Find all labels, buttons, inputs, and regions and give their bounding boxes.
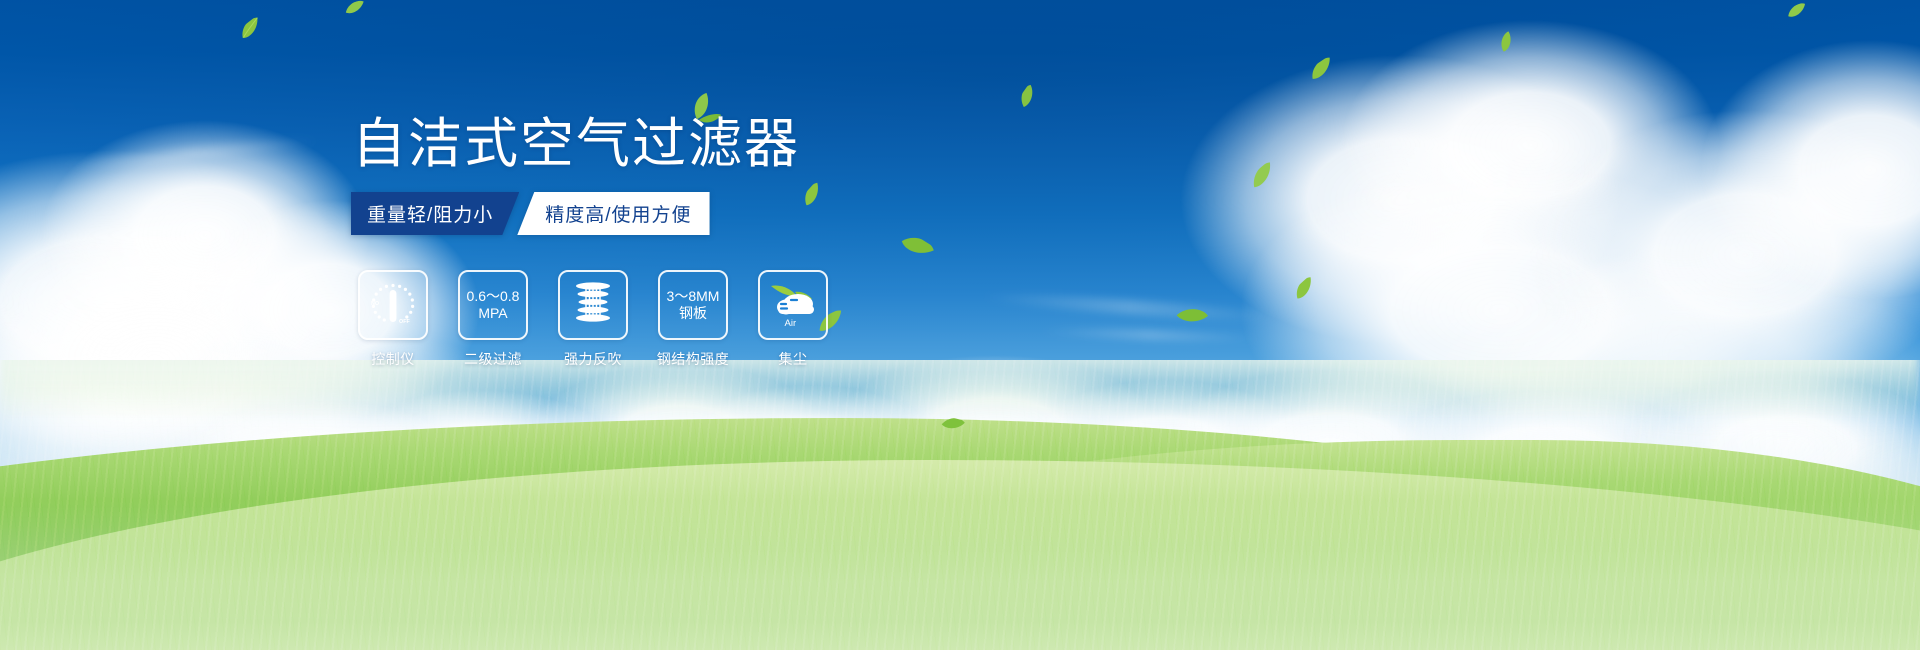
- feature-item: 0.6～0.8 MPA 二级过滤: [458, 270, 528, 369]
- feature-icon-box: 0.6～0.8 MPA: [458, 270, 528, 340]
- page-title: 自洁式空气过滤器: [352, 117, 800, 171]
- tagline-group: 重量轻/阻力小 精度高/使用方便: [351, 192, 710, 235]
- steel-plate-text-icon: 3～8MM 钢板: [667, 288, 720, 321]
- feature-value-line1: 0.6～0.8: [467, 288, 520, 305]
- dial-gauge-icon: NO OFF: [368, 279, 418, 332]
- feature-caption: 强力反吹: [564, 349, 622, 369]
- feature-caption: 集尘: [779, 349, 808, 369]
- air-cloud-icon: Air: [765, 280, 821, 330]
- feature-item: 3～8MM 钢板 钢结构强度: [658, 270, 728, 369]
- tagline-right: 精度高/使用方便: [517, 192, 709, 235]
- feature-value-line1: 3～8MM: [667, 288, 720, 305]
- svg-text:OFF: OFF: [399, 319, 410, 325]
- feature-caption: 钢结构强度: [657, 349, 730, 369]
- svg-text:NO: NO: [371, 301, 379, 307]
- feature-icon-box: 3～8MM 钢板: [658, 270, 728, 340]
- filter-cartridge-icon: [569, 280, 617, 331]
- tagline-left: 重量轻/阻力小: [351, 192, 519, 235]
- hero-banner: 自洁式空气过滤器 重量轻/阻力小 精度高/使用方便: [0, 0, 1920, 650]
- feature-caption: 控制仪: [371, 349, 415, 369]
- feature-item: Air 集尘: [758, 270, 828, 369]
- air-label: Air: [785, 318, 797, 329]
- pressure-text-icon: 0.6～0.8 MPA: [467, 288, 520, 321]
- feature-list: NO OFF 控制仪 0.6～0.8 MPA 二级过滤: [358, 270, 828, 369]
- feature-value-line2: MPA: [467, 305, 520, 322]
- feature-item: NO OFF 控制仪: [358, 270, 428, 369]
- banner-content: 自洁式空气过滤器 重量轻/阻力小 精度高/使用方便: [0, 0, 1920, 650]
- feature-value-line2: 钢板: [667, 305, 720, 322]
- feature-icon-box: Air: [758, 270, 828, 340]
- feature-caption: 二级过滤: [464, 349, 522, 369]
- feature-icon-box: [558, 270, 628, 340]
- feature-item: 强力反吹: [558, 270, 628, 369]
- feature-icon-box: NO OFF: [358, 270, 428, 340]
